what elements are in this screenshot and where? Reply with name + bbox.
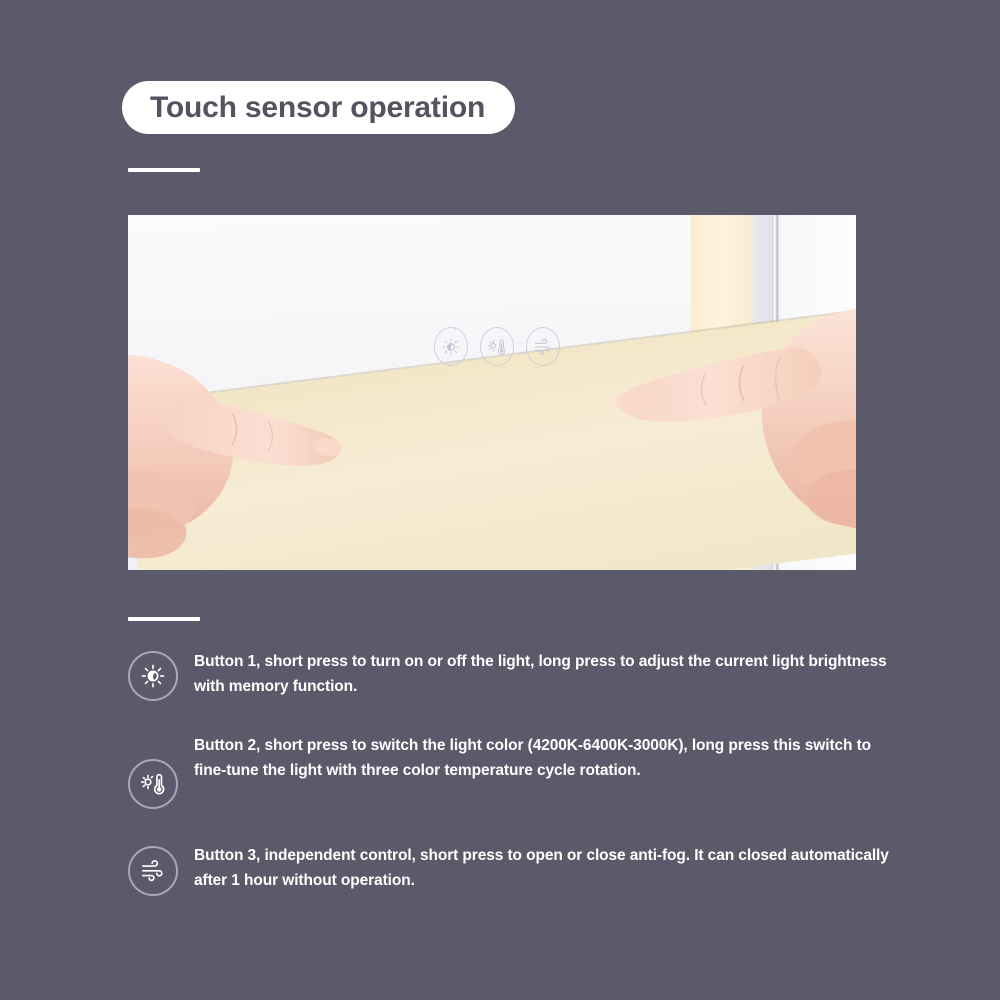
panel-key-anti-fog[interactable] [526,327,560,366]
bullet-icon-color-temperature [128,759,178,809]
hand-pointing-left [558,275,856,565]
color-temperature-icon [140,771,166,797]
page-title: Touch sensor operation [150,91,485,125]
panel-key-brightness[interactable] [434,327,468,366]
list-item-text: Button 3, independent control, short pre… [194,841,898,893]
bullet-icon-anti-fog [128,846,178,896]
product-photo [128,215,856,570]
brightness-sun-icon [441,337,461,357]
brightness-sun-icon [140,663,166,689]
hand-pointing-right [128,325,422,565]
touch-sensor-panel[interactable] [434,327,560,366]
divider-rule-bottom [128,617,200,621]
list-item: Button 3, independent control, short pre… [128,841,898,896]
divider-rule-top [128,168,200,172]
anti-fog-wind-icon [533,337,553,357]
anti-fog-wind-icon [140,858,166,884]
bullet-icon-brightness [128,651,178,701]
list-item: Button 2, short press to switch the ligh… [128,731,898,809]
color-temperature-icon [487,337,507,357]
list-item: Button 1, short press to turn on or off … [128,647,898,701]
page-title-pill: Touch sensor operation [122,81,515,134]
feature-list: Button 1, short press to turn on or off … [128,645,898,920]
list-item-text: Button 2, short press to switch the ligh… [194,731,898,783]
panel-key-color-temperature[interactable] [480,327,514,366]
list-item-text: Button 1, short press to turn on or off … [194,647,898,699]
